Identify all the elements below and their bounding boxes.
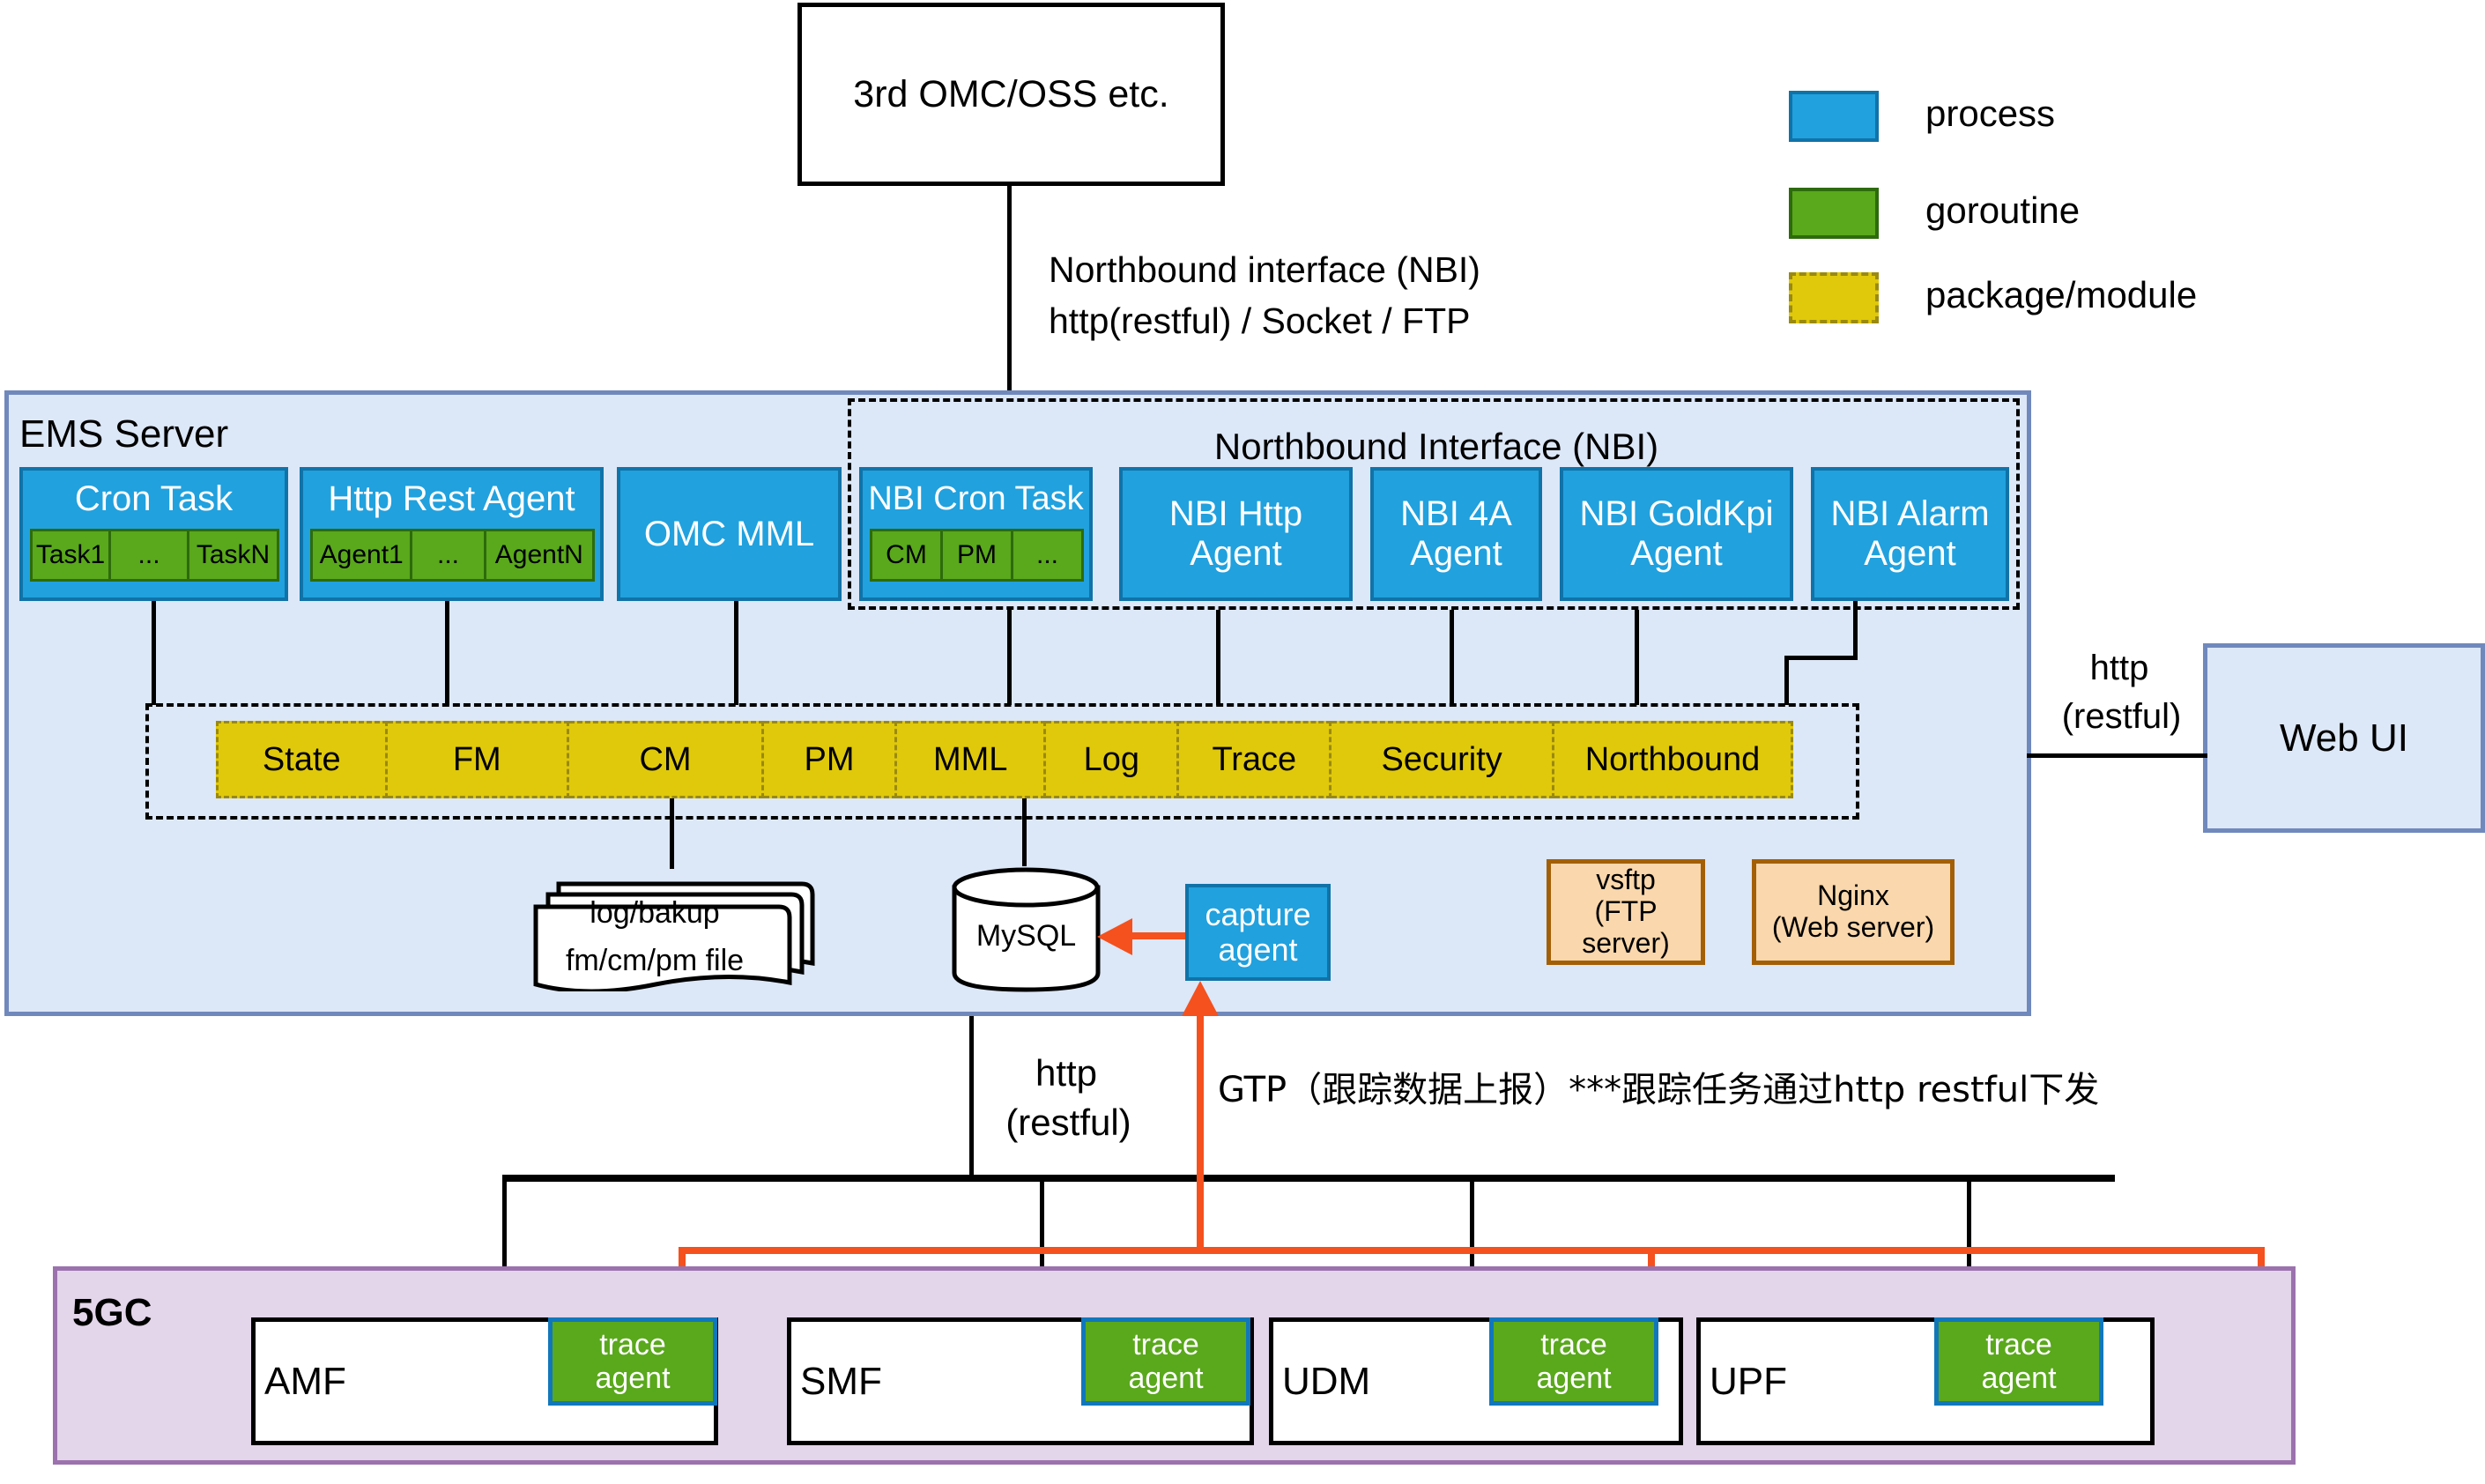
connector-trace-trunk-vertical bbox=[1197, 1013, 1204, 1251]
web-ui-link-label-line1: http bbox=[2044, 649, 2194, 686]
process-capture-agent-label: capture agent bbox=[1189, 897, 1327, 968]
network-function-amf-label: AMF bbox=[264, 1360, 346, 1404]
connector-nbi-http-agent-to-modules bbox=[1216, 610, 1220, 705]
trace-agent-amf-label-line1: trace bbox=[599, 1328, 666, 1362]
third-party-omc-oss-box: 3rd OMC/OSS etc. bbox=[797, 3, 1225, 186]
process-cron-task[interactable]: Cron Task Task1 ... TaskN bbox=[19, 467, 288, 601]
connector-nbi-goldkpi-agent-to-modules bbox=[1635, 610, 1639, 705]
connector-omc-mml-to-modules bbox=[734, 601, 738, 705]
http-restful-label-line2: (restful) bbox=[978, 1103, 1159, 1142]
trace-agent-upf[interactable]: trace agent bbox=[1934, 1317, 2103, 1406]
web-ui-label: Web UI bbox=[2280, 716, 2408, 760]
goroutine-group-http-rest-agent: Agent1 ... AgentN bbox=[310, 529, 595, 582]
goroutine-item[interactable]: TaskN bbox=[189, 529, 279, 582]
module-log[interactable]: Log bbox=[1046, 721, 1179, 798]
arrow-trace-to-capture-agent-head bbox=[1180, 981, 1220, 1018]
trace-agent-udm[interactable]: trace agent bbox=[1489, 1317, 1658, 1406]
server-vsftp[interactable]: vsftp (FTP server) bbox=[1547, 859, 1705, 965]
module-bus: State FM CM PM MML Log Trace Security No… bbox=[216, 721, 1793, 798]
server-nginx-label-line1: Nginx bbox=[1817, 880, 1889, 912]
trace-agent-upf-label-line2: agent bbox=[1981, 1362, 2056, 1395]
ems-server-title: EMS Server bbox=[19, 412, 228, 456]
trace-agent-amf-label-line2: agent bbox=[595, 1362, 670, 1395]
process-omc-mml[interactable]: OMC MML bbox=[617, 467, 842, 601]
goroutine-group-nbi-cron-task: CM PM ... bbox=[870, 529, 1084, 582]
nbi-link-label-line2: http(restful) / Socket / FTP bbox=[1049, 301, 1470, 342]
third-party-omc-oss-label: 3rd OMC/OSS etc. bbox=[853, 73, 1168, 115]
goroutine-item[interactable]: PM bbox=[943, 529, 1013, 582]
core-5gc-title: 5GC bbox=[72, 1291, 152, 1335]
connector-nbi-alarm-agent-segment-h bbox=[1784, 656, 1858, 660]
connector-5gc-bus-horizontal bbox=[502, 1175, 2115, 1182]
database-mysql-label: MySQL bbox=[949, 920, 1103, 952]
process-nbi-http-agent[interactable]: NBI Http Agent bbox=[1119, 467, 1353, 601]
process-cron-task-label: Cron Task bbox=[23, 476, 285, 522]
module-mml[interactable]: MML bbox=[897, 721, 1046, 798]
connector-modules-to-mysql bbox=[1022, 798, 1027, 866]
server-nginx-label-line2: (Web server) bbox=[1772, 912, 1934, 944]
connector-oss-to-ems bbox=[1007, 186, 1012, 394]
network-function-udm-label: UDM bbox=[1282, 1360, 1370, 1404]
connector-ems-to-web-ui bbox=[2027, 753, 2207, 758]
connector-nbi-cron-task-to-modules bbox=[1007, 610, 1012, 705]
connector-ems-to-5gc-trunk-vertical bbox=[969, 1016, 974, 1175]
module-trace[interactable]: Trace bbox=[1179, 721, 1332, 798]
network-function-upf-label: UPF bbox=[1710, 1360, 1787, 1404]
connector-nbi-alarm-agent-segment-v2 bbox=[1784, 656, 1789, 705]
server-nginx[interactable]: Nginx (Web server) bbox=[1752, 859, 1955, 965]
connector-nbi-alarm-agent-segment-v1 bbox=[1853, 601, 1858, 656]
goroutine-item[interactable]: CM bbox=[870, 529, 943, 582]
web-ui-panel[interactable]: Web UI bbox=[2203, 643, 2485, 833]
connector-modules-to-file-store bbox=[670, 798, 674, 869]
trace-agent-udm-label-line1: trace bbox=[1540, 1328, 1607, 1362]
legend-label-process: process bbox=[1925, 93, 2055, 135]
gtp-note-label: GTP（跟踪数据上报）***跟踪任务通过http restful下发 bbox=[1218, 1061, 2099, 1112]
module-fm[interactable]: FM bbox=[388, 721, 569, 798]
process-nbi-goldkpi-agent[interactable]: NBI GoldKpi Agent bbox=[1560, 467, 1793, 601]
process-omc-mml-label: OMC MML bbox=[644, 515, 814, 554]
process-nbi-alarm-agent[interactable]: NBI Alarm Agent bbox=[1811, 467, 2009, 601]
legend-swatch-package-module bbox=[1789, 272, 1879, 323]
connector-cron-task-to-modules bbox=[152, 601, 156, 705]
module-security[interactable]: Security bbox=[1332, 721, 1554, 798]
connector-trace-bus-horizontal bbox=[679, 1247, 2265, 1254]
goroutine-item[interactable]: Task1 bbox=[30, 529, 111, 582]
goroutine-item[interactable]: ... bbox=[412, 529, 486, 582]
module-pm[interactable]: PM bbox=[764, 721, 897, 798]
process-http-rest-agent[interactable]: Http Rest Agent Agent1 ... AgentN bbox=[300, 467, 604, 601]
process-capture-agent[interactable]: capture agent bbox=[1185, 884, 1331, 981]
trace-agent-amf[interactable]: trace agent bbox=[548, 1317, 717, 1406]
trace-agent-upf-label-line1: trace bbox=[1985, 1328, 2052, 1362]
legend-label-package-module: package/module bbox=[1925, 274, 2197, 316]
process-nbi-alarm-agent-label: NBI Alarm Agent bbox=[1814, 494, 2006, 574]
goroutine-item[interactable]: ... bbox=[1013, 529, 1084, 582]
trace-agent-smf[interactable]: trace agent bbox=[1081, 1317, 1250, 1406]
arrow-capture-agent-to-mysql-head bbox=[1097, 916, 1134, 957]
process-http-rest-agent-label: Http Rest Agent bbox=[303, 476, 600, 522]
module-northbound[interactable]: Northbound bbox=[1554, 721, 1793, 798]
file-store-label-line2: fm/cm/pm file bbox=[536, 945, 774, 976]
process-nbi-cron-task[interactable]: NBI Cron Task CM PM ... bbox=[859, 467, 1093, 601]
file-store-label-line1: log/bakup bbox=[536, 897, 774, 929]
process-nbi-4a-agent[interactable]: NBI 4A Agent bbox=[1370, 467, 1542, 601]
process-nbi-cron-task-label: NBI Cron Task bbox=[863, 476, 1089, 522]
legend: process goroutine package/module bbox=[1789, 84, 2406, 322]
trace-agent-smf-label-line1: trace bbox=[1132, 1328, 1199, 1362]
module-cm[interactable]: CM bbox=[569, 721, 764, 798]
legend-label-goroutine: goroutine bbox=[1925, 189, 2080, 232]
nbi-group-title: Northbound Interface (NBI) bbox=[1066, 426, 1806, 468]
connector-http-rest-agent-to-modules bbox=[445, 601, 449, 705]
connector-nbi-4a-agent-to-modules bbox=[1450, 610, 1454, 705]
process-nbi-http-agent-label-line1: NBI Http Agent bbox=[1123, 494, 1349, 574]
network-function-smf-label: SMF bbox=[800, 1360, 882, 1404]
legend-swatch-goroutine bbox=[1789, 188, 1879, 239]
goroutine-item[interactable]: Agent1 bbox=[310, 529, 412, 582]
nbi-link-label-line1: Northbound interface (NBI) bbox=[1049, 249, 1480, 291]
goroutine-item[interactable]: AgentN bbox=[486, 529, 595, 582]
module-state[interactable]: State bbox=[216, 721, 388, 798]
trace-agent-smf-label-line2: agent bbox=[1128, 1362, 1203, 1395]
diagram-canvas: 3rd OMC/OSS etc. Northbound interface (N… bbox=[0, 0, 2485, 1484]
process-nbi-4a-agent-label: NBI 4A Agent bbox=[1374, 494, 1539, 574]
trace-agent-udm-label-line2: agent bbox=[1536, 1362, 1611, 1395]
goroutine-group-cron-task: Task1 ... TaskN bbox=[30, 529, 279, 582]
goroutine-item[interactable]: ... bbox=[111, 529, 189, 582]
http-restful-label-line1: http bbox=[991, 1054, 1141, 1093]
process-nbi-goldkpi-agent-label: NBI GoldKpi Agent bbox=[1563, 494, 1790, 574]
server-vsftp-label-line2: (FTP server) bbox=[1551, 896, 1701, 960]
legend-swatch-process bbox=[1789, 91, 1879, 142]
server-vsftp-label-line1: vsftp bbox=[1596, 864, 1656, 896]
web-ui-link-label-line2: (restful) bbox=[2036, 698, 2207, 735]
